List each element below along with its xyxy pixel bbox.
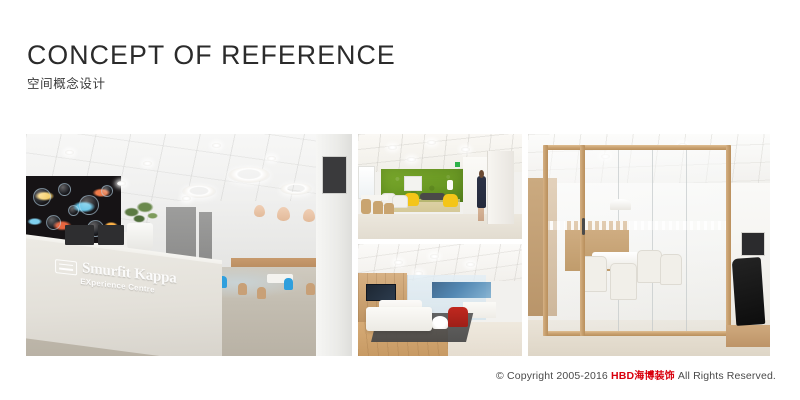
brand-chinese: 海博装饰: [634, 371, 675, 382]
pendant-lamp: [610, 199, 631, 210]
wall-display-icon: [322, 156, 347, 194]
gallery-column-right: [528, 134, 770, 356]
gallery-column-left: Smurfit Kappa EXperience Centre: [26, 134, 352, 356]
white-sofa: [366, 307, 432, 332]
slide-header: CONCEPT OF REFERENCE 空间概念设计: [27, 40, 727, 92]
monitor-icon: [741, 232, 765, 256]
black-task-chair: [731, 257, 765, 325]
frosted-privacy-band: [543, 221, 732, 230]
photo-lounge-scene: [358, 244, 522, 356]
copyright-suffix: All Rights Reserved.: [675, 370, 776, 382]
interior-door: [487, 151, 514, 225]
person-figure: [477, 176, 486, 208]
photo-glass-meeting-pod-scene: [528, 134, 770, 356]
copyright-prefix: © Copyright 2005-2016: [496, 370, 611, 382]
photo-reception-scene: Smurfit Kappa EXperience Centre: [26, 134, 352, 356]
image-gallery: Smurfit Kappa EXperience Centre: [26, 134, 775, 356]
side-table: [432, 316, 448, 329]
brand-latin: HBD: [611, 370, 634, 382]
page-subtitle: 空间概念设计: [27, 76, 727, 92]
ring-pendant-light: [280, 183, 312, 195]
photo-reception[interactable]: Smurfit Kappa EXperience Centre: [26, 134, 352, 356]
photo-green-wall-room[interactable]: [358, 134, 522, 239]
framed-picture: [404, 176, 422, 191]
photo-glass-meeting-pod[interactable]: [528, 134, 770, 356]
smurfit-kappa-mark-icon: [55, 259, 77, 276]
yellow-armchair: [443, 194, 458, 208]
red-accent-chair: [448, 307, 468, 327]
gallery-column-middle: [358, 134, 522, 356]
exit-sign-icon: [455, 162, 461, 166]
copyright-footer: © Copyright 2005-2016 HBD海博装饰 All Rights…: [496, 369, 776, 384]
photo-lounge[interactable]: [358, 244, 522, 356]
page-title: CONCEPT OF REFERENCE: [27, 40, 720, 70]
photo-green-wall-room-scene: [358, 134, 522, 239]
company-brand: HBD海博装饰: [611, 370, 675, 382]
glass-meeting-pod: [543, 145, 732, 336]
wall-display-icon: [366, 284, 396, 301]
desk: [726, 325, 770, 347]
